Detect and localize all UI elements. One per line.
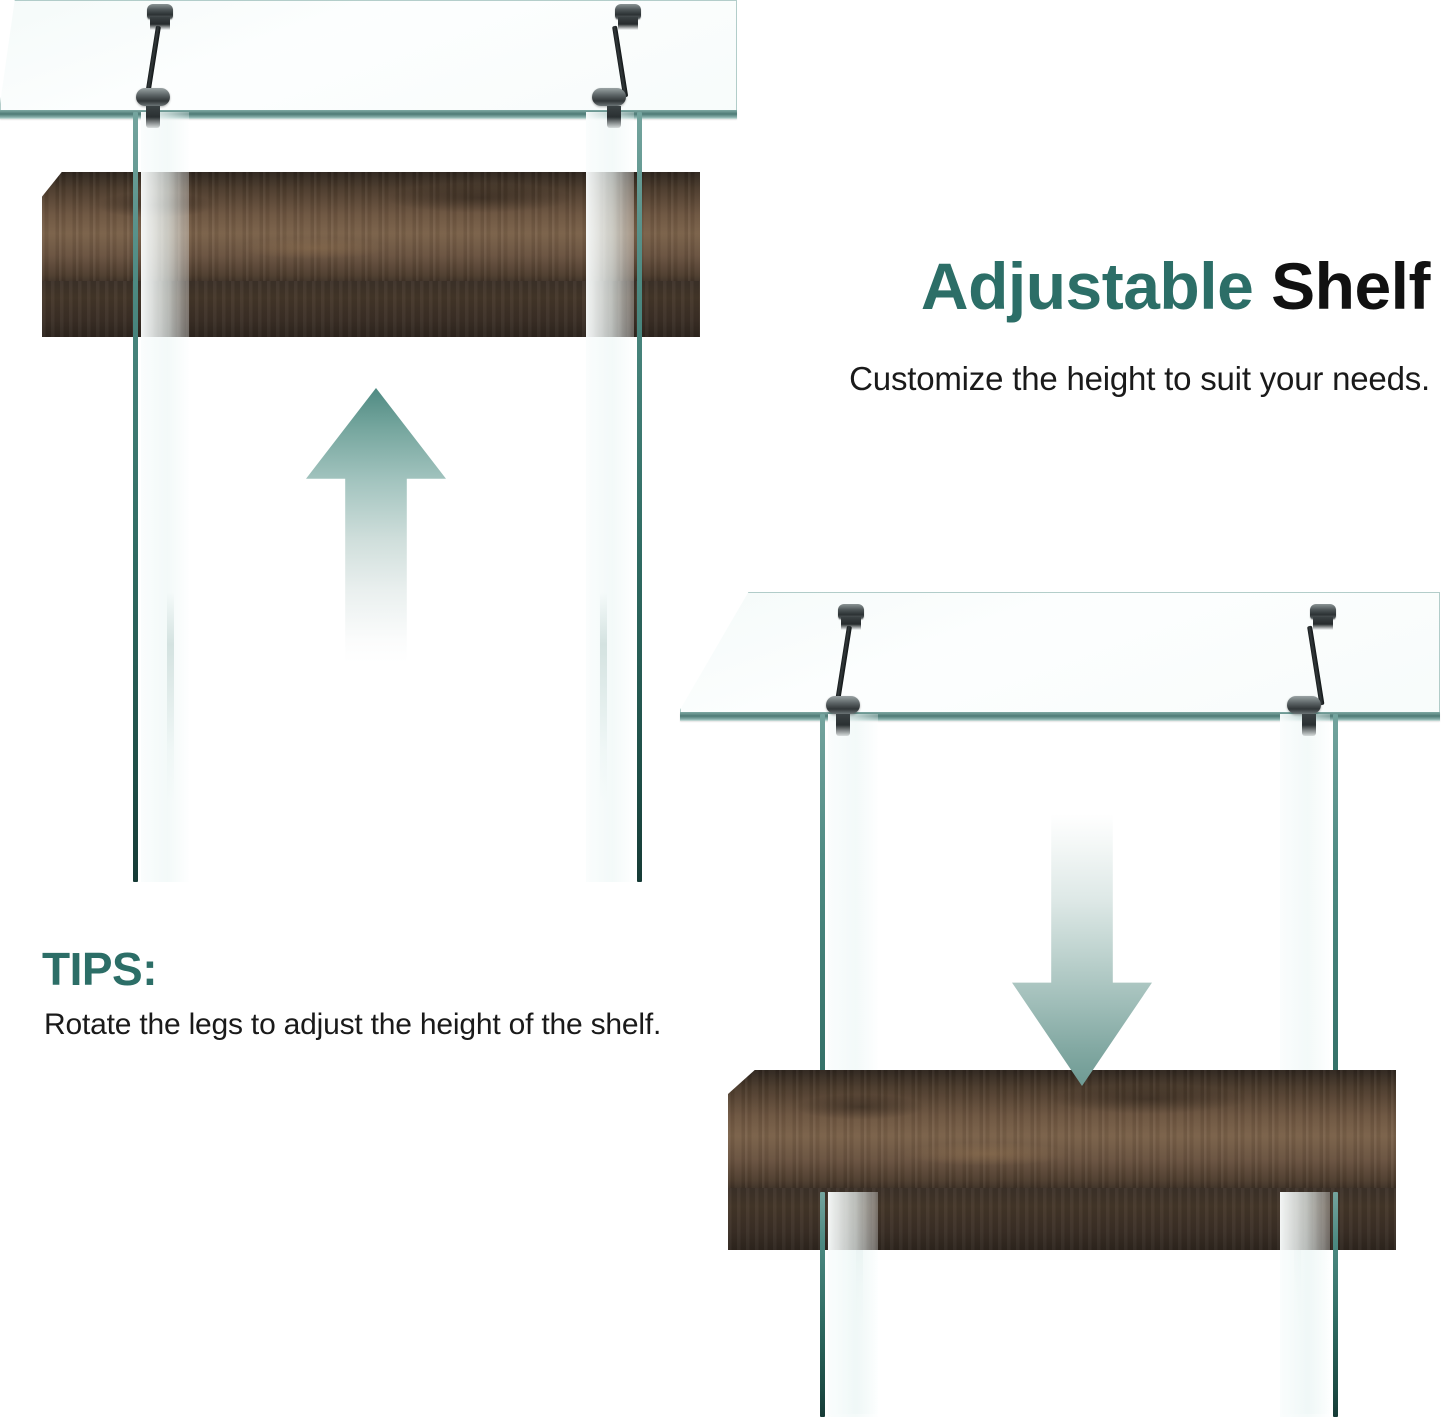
bracket-hardware-left <box>120 0 240 140</box>
figure-table-shelf-low <box>680 592 1445 1417</box>
arrow-down-icon <box>1012 814 1152 1086</box>
arrow-up-icon <box>306 388 446 663</box>
bracket-hardware-right <box>1254 600 1374 750</box>
glass-leg-left <box>133 112 189 882</box>
glass-leg-right-lower <box>1280 1192 1338 1417</box>
bracket-hardware-right <box>560 0 680 140</box>
glass-leg-left-lower <box>820 1192 878 1417</box>
glass-leg-right <box>586 112 642 882</box>
bracket-hardware-left <box>808 600 928 750</box>
figure-table-shelf-high <box>0 0 760 880</box>
tips-heading: TIPS: <box>42 942 157 996</box>
page-title: Adjustable Shelf <box>700 252 1430 321</box>
infographic-canvas: Adjustable Shelf Customize the height to… <box>0 0 1445 1417</box>
headline-plain-word: Shelf <box>1271 249 1430 323</box>
tips-text: Rotate the legs to adjust the height of … <box>44 1008 661 1042</box>
headline-accent-word: Adjustable <box>921 249 1253 323</box>
page-subtitle: Customize the height to suit your needs. <box>690 360 1430 398</box>
shelf-top-face <box>728 1070 1396 1190</box>
